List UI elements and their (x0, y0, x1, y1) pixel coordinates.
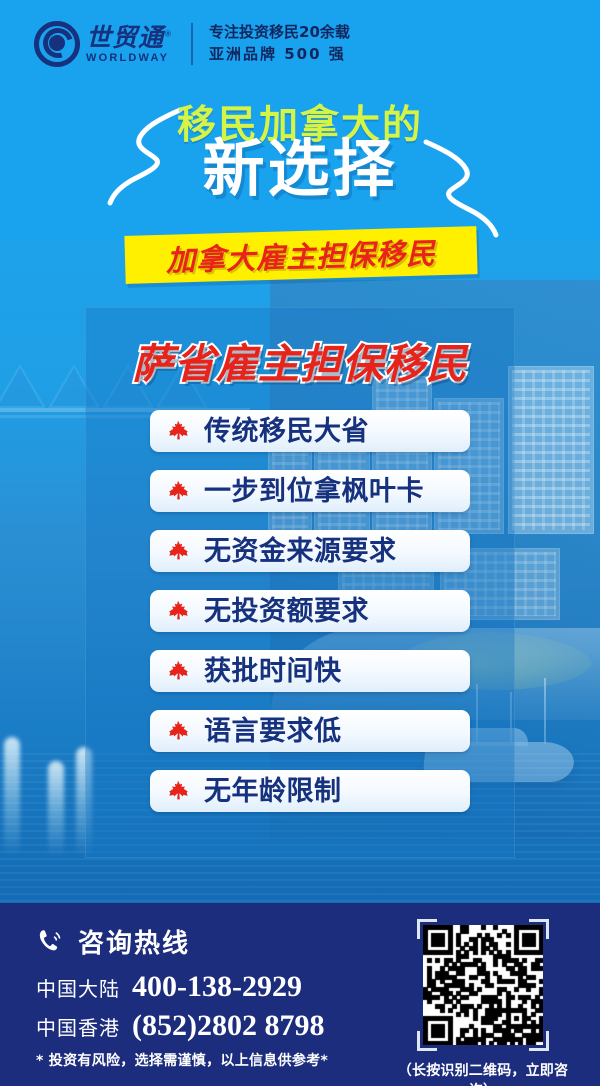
registered-mark-icon: ® (164, 29, 173, 38)
list-item-label: 语言要求低 (204, 718, 342, 745)
list-item-label: 一步到位拿枫叶卡 (204, 478, 424, 505)
list-item[interactable]: 传统移民大省 (150, 410, 470, 452)
qr-frame (417, 919, 549, 1051)
list-item[interactable]: 一步到位拿枫叶卡 (150, 470, 470, 512)
list-item-label: 传统移民大省 (204, 418, 369, 445)
logo-english-name: WORLDWAY (86, 53, 173, 64)
contact-row-hongkong: 中国香港 (852)2802 8798 (36, 1009, 324, 1043)
phone-icon (36, 927, 66, 957)
list-item[interactable]: 无投资额要求 (150, 590, 470, 632)
worldway-logo-icon (34, 21, 80, 67)
header-divider (191, 23, 193, 65)
maple-leaf-icon (166, 419, 190, 443)
list-item-label: 无资金来源要求 (204, 538, 397, 565)
maple-leaf-icon (166, 659, 190, 683)
hotline-label: 咨询热线 (78, 923, 190, 960)
list-item[interactable]: 无年龄限制 (150, 770, 470, 812)
contact-phone-number[interactable]: (852)2802 8798 (132, 1009, 324, 1043)
qr-block: （长按识别二维码，立即咨询） (388, 919, 578, 1086)
hotline-heading: 咨询热线 (36, 923, 190, 960)
maple-leaf-icon (166, 719, 190, 743)
hero-headline-2: 新选择 (0, 136, 600, 201)
list-item[interactable]: 语言要求低 (150, 710, 470, 752)
maple-leaf-icon (166, 599, 190, 623)
yellow-banner: 加拿大雇主担保移民 (124, 226, 477, 284)
poster-root: 世贸通® WORLDWAY 专注投资移民20余载 亚洲品牌 500 强 移民加拿… (0, 0, 600, 1086)
header-tagline: 专注投资移民20余载 亚洲品牌 500 强 (209, 22, 350, 66)
qr-code-icon[interactable] (423, 925, 543, 1045)
maple-leaf-icon (166, 539, 190, 563)
feature-list: 传统移民大省 一步到位拿枫叶卡 无资金来源要求 无投资额要求 获批时间快 (150, 410, 470, 830)
yellow-banner-label: 加拿大雇主担保移民 (165, 230, 436, 280)
brand-logo[interactable]: 世贸通® WORLDWAY (34, 21, 173, 67)
list-item[interactable]: 获批时间快 (150, 650, 470, 692)
tagline-line-2: 亚洲品牌 500 强 (209, 44, 350, 66)
maple-leaf-icon (166, 779, 190, 803)
list-item[interactable]: 无资金来源要求 (150, 530, 470, 572)
list-item-label: 无投资额要求 (204, 598, 369, 625)
tagline-line-1: 专注投资移民20余载 (209, 22, 350, 44)
list-item-label: 获批时间快 (204, 658, 342, 685)
disclaimer-text: * 投资有风险，选择需谨慎，以上信息供参考* (36, 1050, 328, 1070)
footer-bar: 咨询热线 中国大陆 400-138-2929 中国香港 (852)2802 87… (0, 903, 600, 1086)
contact-phone-number[interactable]: 400-138-2929 (132, 970, 302, 1004)
header-bar: 世贸通® WORLDWAY 专注投资移民20余载 亚洲品牌 500 强 (0, 0, 600, 88)
contact-row-mainland: 中国大陆 400-138-2929 (36, 970, 302, 1004)
contact-region-label: 中国大陆 (36, 973, 120, 1002)
contact-region-label: 中国香港 (36, 1012, 120, 1041)
logo-chinese-name: 世贸通 (86, 23, 164, 52)
list-item-label: 无年龄限制 (204, 778, 342, 805)
qr-caption: （长按识别二维码，立即咨询） (388, 1060, 578, 1086)
hero-section: 移民加拿大的 新选择 (0, 88, 600, 243)
maple-leaf-icon (166, 479, 190, 503)
panel-title: 萨省雇主担保移民 (85, 330, 515, 390)
